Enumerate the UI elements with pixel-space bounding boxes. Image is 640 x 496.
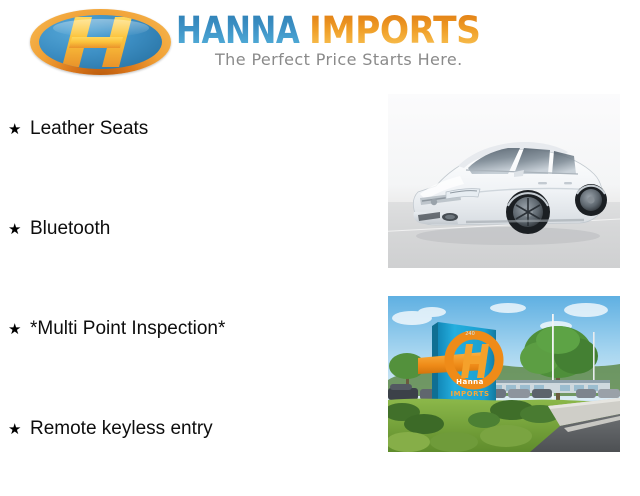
brand-name-secondary: IMPORTS	[309, 11, 480, 51]
brand-tagline: The Perfect Price Starts Here.	[215, 50, 463, 70]
star-bullet-icon: ★	[8, 418, 30, 440]
vehicle-photo	[388, 94, 620, 268]
list-item: ★ Remote keyless entry	[0, 396, 380, 496]
sedan-illustration	[388, 94, 620, 268]
emblem-blue-field	[39, 15, 162, 69]
star-bullet-icon: ★	[8, 218, 30, 240]
brand-wordmark: HANNAIMPORTS	[176, 11, 493, 51]
dealership-illustration	[388, 296, 620, 452]
sign-address: 240	[450, 331, 490, 337]
feature-label: Bluetooth	[30, 218, 110, 240]
brand-header: HANNAIMPORTS The Perfect Price Starts He…	[0, 0, 640, 90]
emblem-gloss-highlight	[53, 19, 149, 37]
feature-label: Remote keyless entry	[30, 418, 213, 440]
feature-label: Leather Seats	[30, 118, 148, 140]
dealership-photo-backdrop: 240 Hanna IMPORTS	[388, 296, 620, 452]
feature-item-remote-keyless-entry: ★ Remote keyless entry	[8, 418, 213, 440]
slide-canvas: HANNAIMPORTS The Perfect Price Starts He…	[0, 0, 640, 480]
list-item: ★ Bluetooth	[0, 196, 380, 296]
feature-label: *Multi Point Inspection*	[30, 318, 225, 340]
brand-name-primary: HANNA	[176, 11, 299, 51]
hanna-h-oval-emblem-icon	[30, 9, 171, 75]
vehicle-photo-backdrop	[388, 94, 620, 268]
list-item: ★ Leather Seats	[0, 96, 380, 196]
star-bullet-icon: ★	[8, 118, 30, 140]
feature-list: ★ Leather Seats ★ Bluetooth ★ *Multi Poi…	[0, 96, 380, 496]
feature-item-leather-seats: ★ Leather Seats	[8, 118, 148, 140]
feature-item-multi-point-inspection: ★ *Multi Point Inspection*	[8, 318, 225, 340]
emblem-outer-ring	[30, 9, 171, 75]
star-bullet-icon: ★	[8, 318, 30, 340]
dealership-photo: 240 Hanna IMPORTS	[388, 296, 620, 452]
list-item: ★ *Multi Point Inspection*	[0, 296, 380, 396]
sign-text-hanna: Hanna	[447, 378, 493, 386]
feature-item-bluetooth: ★ Bluetooth	[8, 218, 110, 240]
sign-text-imports: IMPORTS	[445, 390, 495, 398]
